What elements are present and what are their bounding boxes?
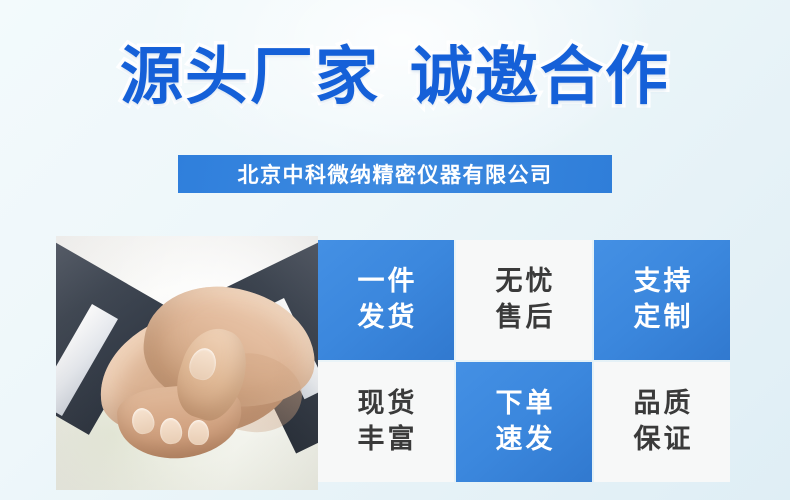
headline-part-1: 源头厂家 [120,42,380,112]
feature-tile-line-2: 保证 [631,422,694,458]
company-name-label: 北京中科微纳精密仪器有限公司 [238,159,553,189]
feature-tile-line-2: 发货 [355,300,418,336]
feature-tile-line-1: 现货 [355,386,418,422]
feature-tile-line-1: 品质 [631,386,694,422]
feature-tile-line-2: 定制 [631,300,694,336]
feature-tile-line-1: 一件 [355,264,418,300]
feature-tile-ample-stock: 现货 丰富 [318,362,454,482]
feature-tile-fast-dispatch: 下单 速发 [456,362,592,482]
feature-tile-line-2: 速发 [493,422,556,458]
headline-part-2: 诚邀合作 [410,42,670,112]
handshake-photo [56,236,318,490]
feature-tile-quality-guarantee: 品质 保证 [594,362,730,482]
company-name-bar: 北京中科微纳精密仪器有限公司 [178,155,612,193]
headline: 源头厂家诚邀合作 [0,42,790,112]
feature-tile-worry-free-service: 无忧 售后 [456,240,592,360]
feature-tile-line-2: 售后 [493,300,556,336]
feature-tile-line-1: 下单 [493,386,556,422]
feature-tile-customization-support: 支持 定制 [594,240,730,360]
feature-tile-line-1: 无忧 [493,264,556,300]
feature-tile-line-1: 支持 [631,264,694,300]
feature-tile-one-piece-shipping: 一件 发货 [318,240,454,360]
promo-banner: 源头厂家诚邀合作 北京中科微纳精密仪器有限公司 一件 发货 无忧 售后 [0,0,790,500]
feature-tile-line-2: 丰富 [355,422,418,458]
feature-grid: 一件 发货 无忧 售后 支持 定制 现货 丰富 下单 速发 品质 保证 [318,240,730,482]
photo-vignette [56,236,318,490]
